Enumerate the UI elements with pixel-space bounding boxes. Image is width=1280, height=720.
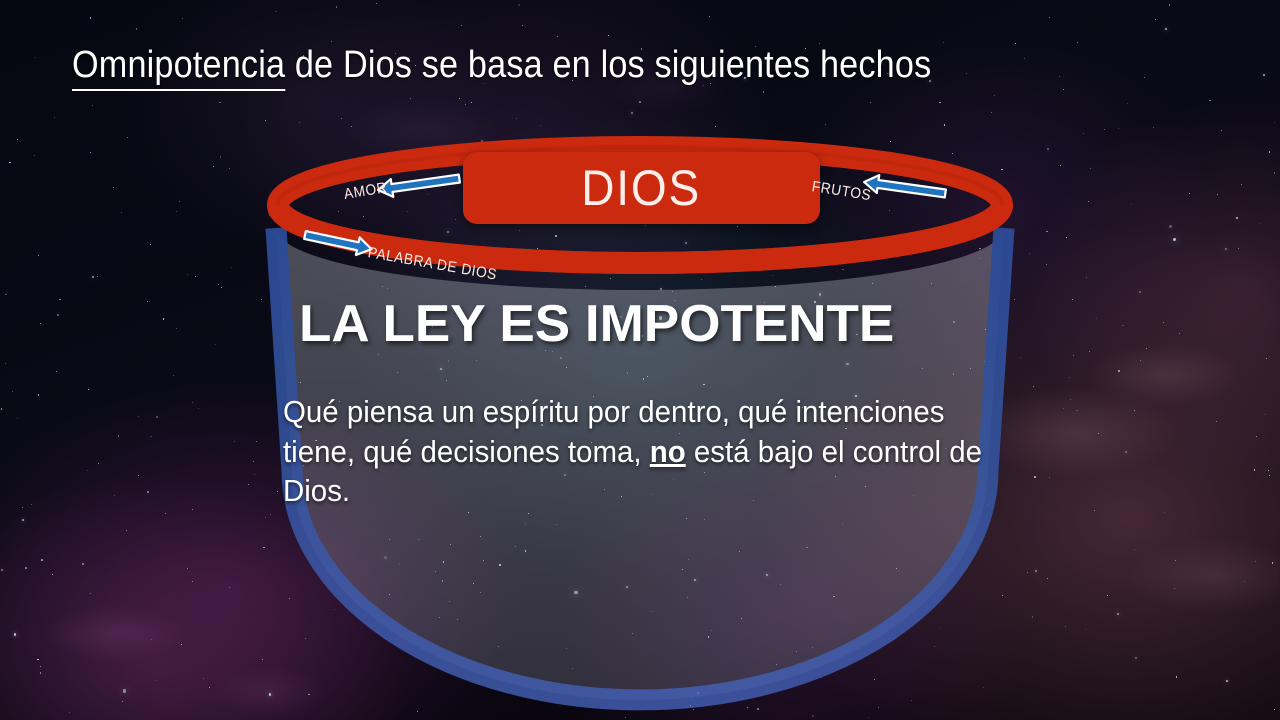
body-paragraph: Qué piensa un espíritu por dentro, qué i… (283, 392, 986, 511)
headline: LA LEY ES IMPOTENTE (299, 294, 894, 354)
title-rest: de Dios se basa en los siguientes hechos (285, 44, 931, 86)
title-underlined-word: Omnipotencia (72, 44, 285, 91)
body-emphasis: no (650, 434, 686, 469)
nebula-wisps (0, 0, 1280, 720)
slide-canvas: DIOS AMOR FRUTOS PALABRA DE DIOS Omnipo (0, 0, 1280, 720)
dios-box[interactable]: DIOS (463, 152, 820, 224)
dios-label: DIOS (582, 159, 702, 217)
page-title: Omnipotencia de Dios se basa en los sigu… (72, 44, 931, 87)
